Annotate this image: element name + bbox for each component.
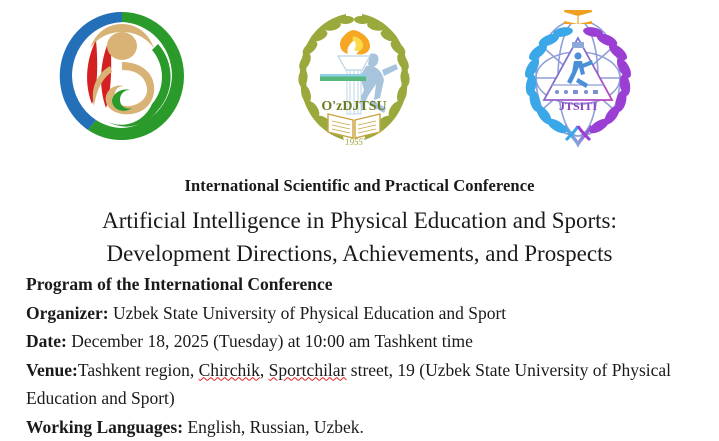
page-title-line-2: Development Directions, Achievements, an… [0,237,719,270]
logo-band: O'zDJTSU 1955 [0,0,719,152]
date-line: Date: December 18, 2025 (Tuesday) at 10:… [26,327,686,356]
program-heading-line: Program of the International Conference [26,270,686,299]
working-languages-label: Working Languages: [26,417,183,437]
document-page: O'zDJTSU 1955 [0,0,719,441]
page-title: Artificial Intelligence in Physical Educ… [0,204,719,270]
conference-details-block: Program of the International Conference … [26,270,686,441]
venue-misspelled-word-chirchik: Chirchik [199,360,260,380]
jtsiti-acronym-text: JTSITI [559,99,597,113]
page-title-line-1: Artificial Intelligence in Physical Educ… [0,204,719,237]
venue-value-part-1: Tashkent region, [78,360,199,380]
working-languages-value: English, Russian, Uzbek. [187,417,363,437]
organizer-label: Organizer: [26,303,109,323]
date-label: Date: [26,331,67,351]
triangle-runner-glyph [544,38,612,100]
working-languages-line: Working Languages: English, Russian, Uzb… [26,413,686,441]
ozdjtsu-university-logo: O'zDJTSU 1955 [284,4,424,148]
uzbek-sport-emblem-logo [52,4,192,148]
venue-value-part-2: , [260,360,269,380]
venue-label: Venue: [26,360,78,380]
venue-line: Venue:Tashkent region, Chirchik, Sportch… [26,356,686,413]
organizer-value: Uzbek State University of Physical Educa… [113,303,506,323]
program-heading-text: Program of the International Conference [26,274,333,294]
jtsiti-institute-logo: JTSITI [508,4,648,148]
organizer-line: Organizer: Uzbek State University of Phy… [26,299,686,328]
book-icon [564,10,592,24]
date-value: December 18, 2025 (Tuesday) at 10:00 am … [71,331,473,351]
conference-eyebrow-heading: International Scientific and Practical C… [0,176,719,196]
sport-emblem-glyph [60,12,184,140]
venue-misspelled-word-sportchilar: Sportchilar [269,360,347,380]
ozdjtsu-founded-year-text: 1955 [345,137,364,147]
ozdjtsu-acronym-text: O'zDJTSU [321,99,386,114]
